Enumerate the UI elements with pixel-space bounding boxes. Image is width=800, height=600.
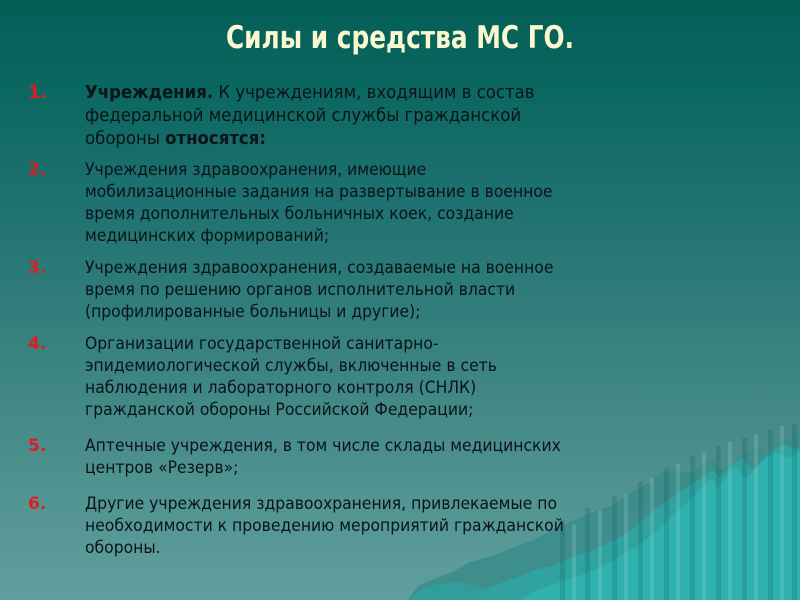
list-item: 1. Учреждения. К учреждениям, входящим в…	[0, 82, 800, 151]
list-item: 4. Организации государственной санитарно…	[0, 333, 800, 421]
list-item-text: Организации государственной санитарно- э…	[85, 333, 800, 421]
list-item-text: Другие учреждения здравоохранения, привл…	[85, 493, 800, 559]
list-item-run: федеральной медицинской службы гражданск…	[85, 106, 521, 126]
list-item-run: Другие учреждения здравоохранения, привл…	[85, 494, 557, 513]
list-item-number: 5.	[28, 435, 46, 457]
list-item-run: наблюдения и лабораторного контроля (СНЛ…	[85, 378, 476, 397]
list-item-text: Учреждения здравоохранения, создаваемые …	[85, 257, 800, 323]
list-item-run: эпидемиологической службы, включенные в …	[85, 356, 497, 375]
list-item-run: мобилизационные задания на развертывание…	[85, 182, 553, 201]
list-item-run: медицинских формирований;	[85, 226, 329, 245]
list-item-number: 3.	[28, 257, 46, 279]
list-item-run: время дополнительных больничных коек, со…	[85, 204, 514, 223]
list-item-run: относятся:	[165, 129, 266, 149]
list-item-text: Учреждения здравоохранения, имеющие моби…	[85, 159, 800, 247]
list-item-run: гражданской обороны Российской Федерации…	[85, 400, 473, 419]
list-item-text: Аптечные учреждения, в том числе склады …	[85, 435, 800, 479]
numbered-list: 1. Учреждения. К учреждениям, входящим в…	[0, 82, 800, 559]
list-item-run: Организации государственной санитарно-	[85, 334, 439, 353]
list-item-run: необходимости к проведению мероприятий г…	[85, 516, 564, 535]
list-item-run: центров «Резерв»;	[85, 458, 238, 477]
list-item: 6. Другие учреждения здравоохранения, пр…	[0, 493, 800, 559]
list-item: 3. Учреждения здравоохранения, создаваем…	[0, 257, 800, 323]
list-item-number: 2.	[28, 159, 46, 181]
list-item-run: время по решению органов исполнительной …	[85, 280, 515, 299]
list-item: 5. Аптечные учреждения, в том числе скла…	[0, 435, 800, 479]
list-item-number: 1.	[28, 82, 47, 104]
list-item-number: 6.	[28, 493, 46, 515]
list-item: 2. Учреждения здравоохранения, имеющие м…	[0, 159, 800, 247]
list-item-run: Учреждения здравоохранения, создаваемые …	[85, 258, 553, 277]
list-item-run: (профилированные больницы и другие);	[85, 302, 420, 321]
list-item-number: 4.	[28, 333, 46, 355]
list-item-run: обороны	[85, 129, 165, 149]
list-item-text: Учреждения. К учреждениям, входящим в со…	[85, 82, 800, 151]
slide-title: Силы и средства МС ГО.	[80, 20, 720, 56]
list-item-run: К учреждениям, входящим в состав	[213, 83, 534, 103]
list-item-run: Учреждения.	[85, 83, 213, 103]
list-item-run: Учреждения здравоохранения, имеющие	[85, 160, 426, 179]
list-item-run: Аптечные учреждения, в том числе склады …	[85, 436, 561, 455]
list-item-run: обороны.	[85, 538, 161, 557]
presentation-slide: Силы и средства МС ГО. 1. Учреждения. К …	[0, 0, 800, 600]
